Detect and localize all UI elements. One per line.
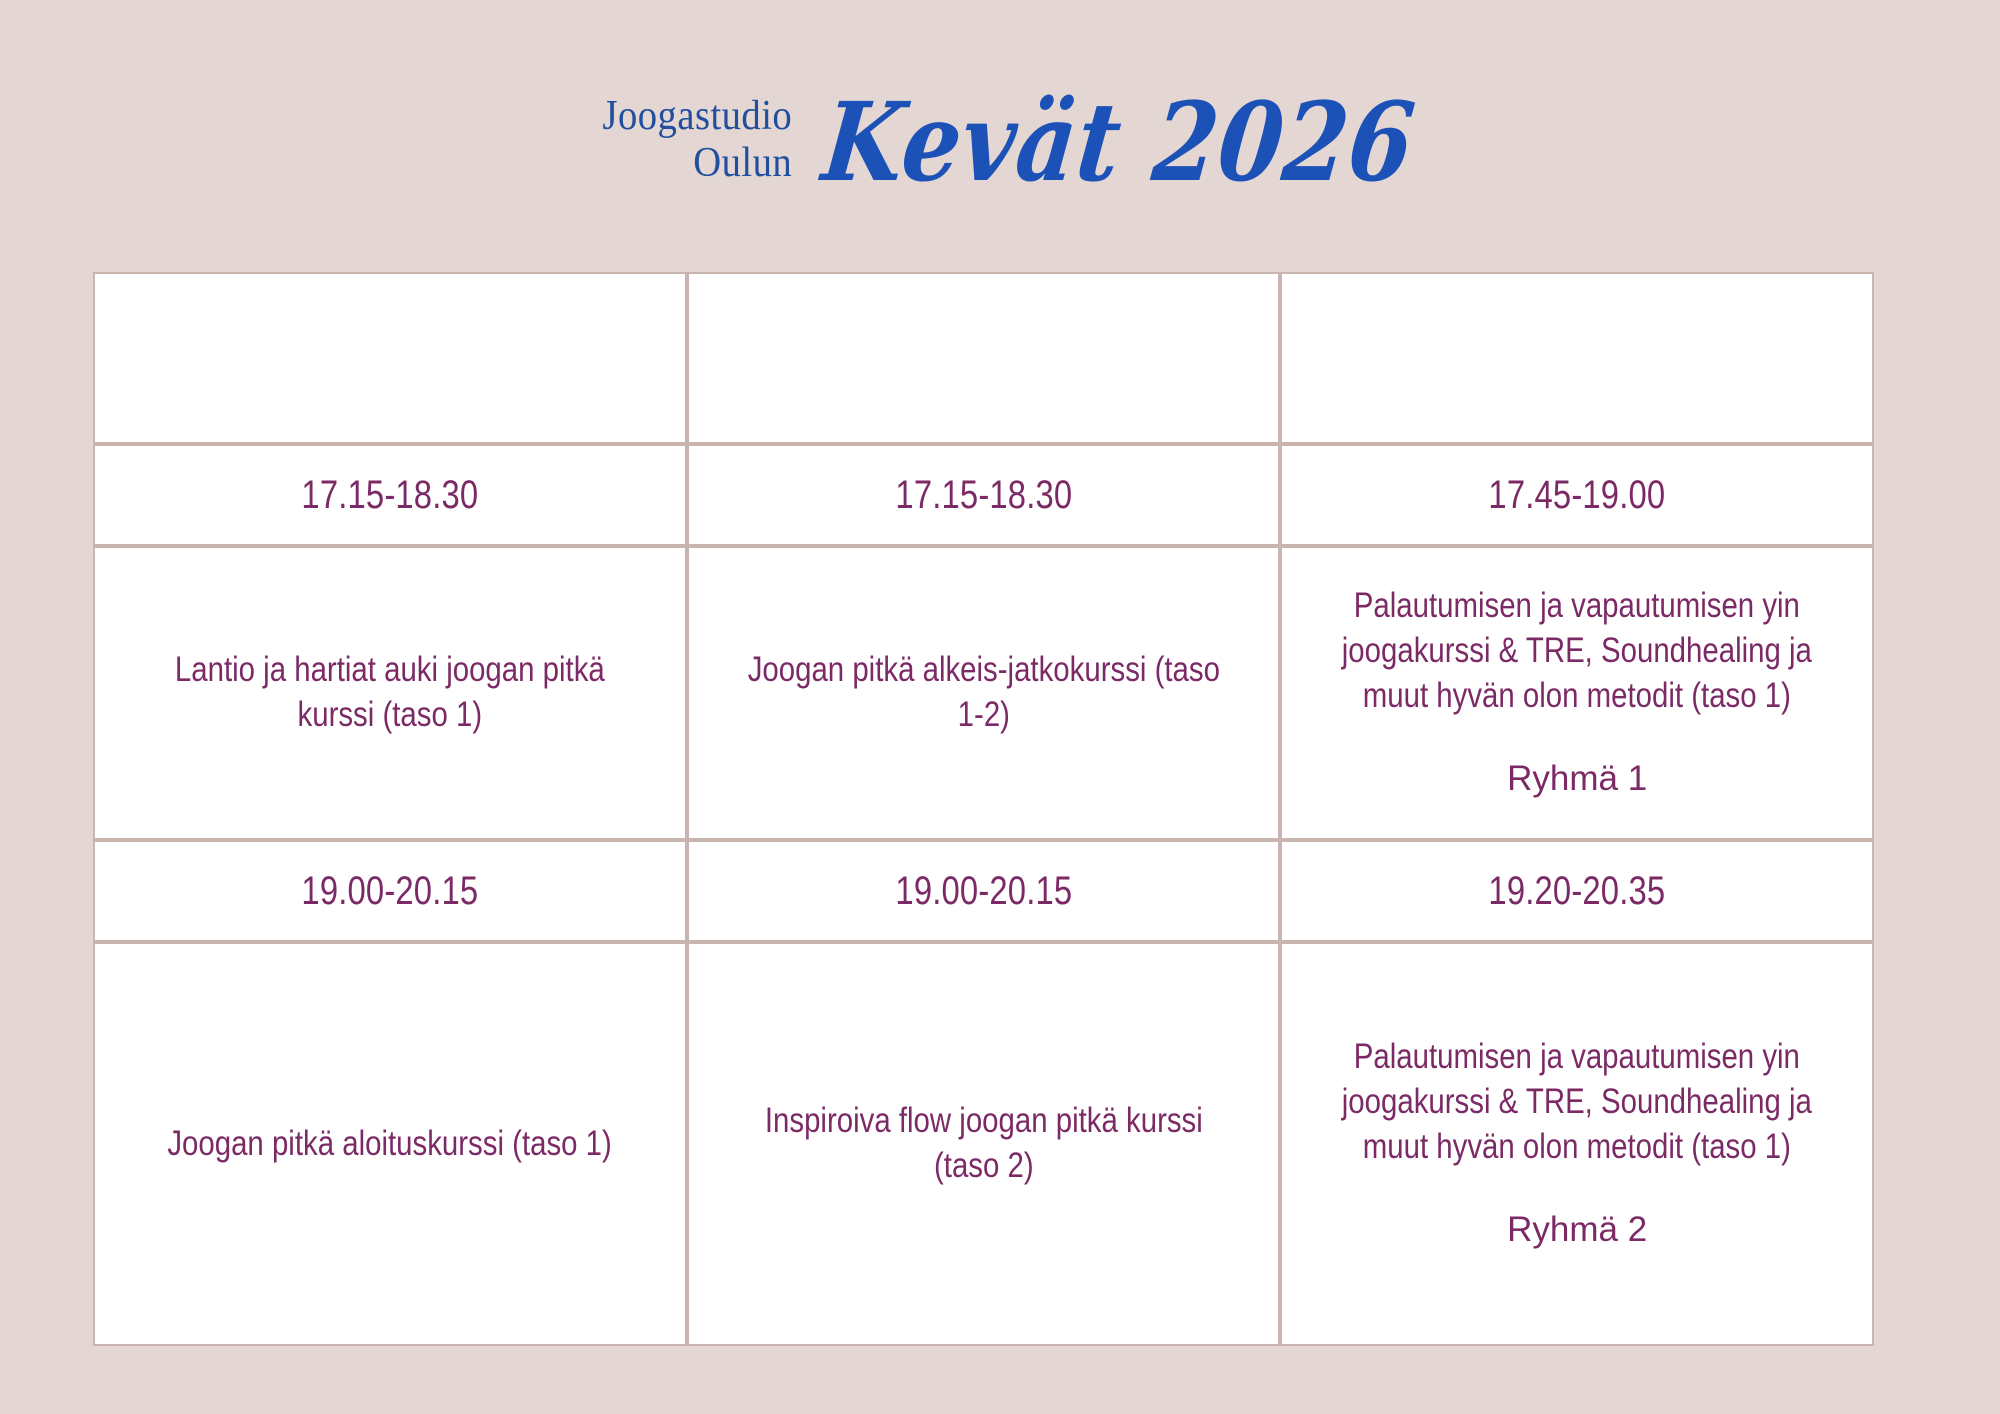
brand-line-secondary: Oulun: [693, 140, 792, 187]
day-venue-monday: KULTTUURILABORATORIO: [154, 364, 626, 398]
class-monday-early: Lantio ja hartiat auki joogan pitkä kurs…: [93, 546, 687, 840]
time-text: 17.15-18.30: [895, 473, 1072, 518]
time-wednesday-early: 17.45-19.00: [1280, 444, 1874, 546]
class-tuesday-early: Joogan pitkä alkeis-jatkokurssi (taso 1-…: [687, 546, 1281, 840]
time-tuesday-early: 17.15-18.30: [687, 444, 1281, 546]
class-tuesday-late: Inspiroiva flow joogan pitkä kurssi (tas…: [687, 942, 1281, 1346]
schedule-poster: Joogastudio Oulun Kevät 2026 MAANANTAI K…: [0, 0, 2000, 1414]
day-header-tuesday: TIISTAI KULTTUURILABORATORIO: [687, 272, 1281, 444]
day-name-tuesday: TIISTAI: [748, 319, 1220, 358]
day-header-monday: MAANANTAI KULTTUURILABORATORIO: [93, 272, 687, 444]
schedule-table-head: MAANANTAI KULTTUURILABORATORIO TIISTAI K…: [93, 272, 1874, 444]
brand-line-primary: Joogastudio: [602, 93, 792, 140]
class-group: Ryhmä 1: [1282, 757, 1872, 802]
time-tuesday-late: 19.00-20.15: [687, 840, 1281, 942]
class-name: Joogan pitkä alkeis-jatkokurssi (taso 1-…: [736, 648, 1231, 738]
time-wednesday-late: 19.20-20.35: [1280, 840, 1874, 942]
time-text: 17.15-18.30: [301, 473, 478, 518]
class-name: Lantio ja hartiat auki joogan pitkä kurs…: [142, 648, 637, 738]
season-title: Kevät 2026: [812, 88, 1420, 197]
class-monday-late: Joogan pitkä aloituskurssi (taso 1): [93, 942, 687, 1346]
time-text: 19.00-20.15: [301, 869, 478, 914]
schedule-table: MAANANTAI KULTTUURILABORATORIO TIISTAI K…: [93, 272, 1874, 1346]
class-name: Palautumisen ja vapautumisen yin joogaku…: [1329, 584, 1824, 718]
schedule-table-body: 17.15-18.30 17.15-18.30 17.45-19.00 Lant…: [93, 444, 1874, 1346]
time-monday-early: 17.15-18.30: [93, 444, 687, 546]
poster-header: Joogastudio Oulun Kevät 2026: [0, 72, 2000, 212]
day-name-wednesday: KESKIVIIKKO: [1341, 319, 1813, 358]
day-venue-wednesday: HYVÄNOLON STUDIO 10: [1341, 364, 1813, 398]
time-row-early: 17.15-18.30 17.15-18.30 17.45-19.00: [93, 444, 1874, 546]
class-group: Ryhmä 2: [1282, 1208, 1872, 1253]
time-monday-late: 19.00-20.15: [93, 840, 687, 942]
time-text: 17.45-19.00: [1489, 473, 1666, 518]
class-wednesday-early: Palautumisen ja vapautumisen yin joogaku…: [1280, 546, 1874, 840]
class-row-late: Joogan pitkä aloituskurssi (taso 1) Insp…: [93, 942, 1874, 1346]
class-row-early: Lantio ja hartiat auki joogan pitkä kurs…: [93, 546, 1874, 840]
day-header-wednesday: KESKIVIIKKO HYVÄNOLON STUDIO 10: [1280, 272, 1874, 444]
day-header-row: MAANANTAI KULTTUURILABORATORIO TIISTAI K…: [93, 272, 1874, 444]
time-text: 19.20-20.35: [1489, 869, 1666, 914]
time-text: 19.00-20.15: [895, 869, 1072, 914]
time-row-late: 19.00-20.15 19.00-20.15 19.20-20.35: [93, 840, 1874, 942]
class-name: Palautumisen ja vapautumisen yin joogaku…: [1329, 1035, 1824, 1169]
class-name: Inspiroiva flow joogan pitkä kurssi (tas…: [736, 1099, 1231, 1189]
day-venue-tuesday: KULTTUURILABORATORIO: [748, 364, 1220, 398]
class-name: Joogan pitkä aloituskurssi (taso 1): [168, 1122, 612, 1167]
studio-brand: Joogastudio Oulun: [602, 93, 792, 191]
class-wednesday-late: Palautumisen ja vapautumisen yin joogaku…: [1280, 942, 1874, 1346]
day-name-monday: MAANANTAI: [154, 319, 626, 358]
